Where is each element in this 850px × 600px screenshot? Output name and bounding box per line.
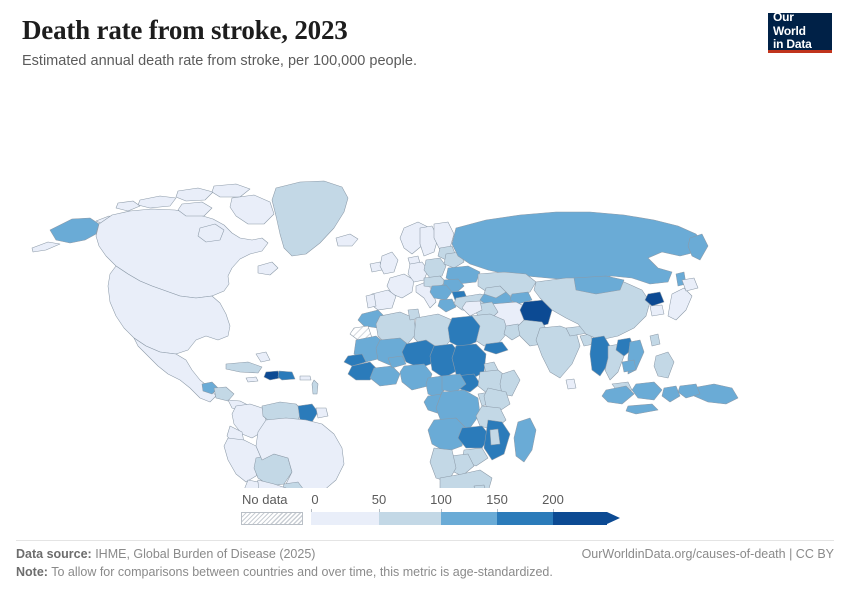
country-canada-arctic-2[interactable]	[176, 188, 213, 201]
country-aleutians[interactable]	[32, 242, 60, 252]
legend-open-ended-arrow	[607, 512, 620, 524]
country-puerto-rico[interactable]	[300, 376, 311, 380]
country-greenland[interactable]	[272, 181, 348, 256]
country-newfoundland[interactable]	[258, 262, 278, 275]
legend-tick-3	[497, 509, 498, 512]
country-south-korea[interactable]	[650, 305, 664, 316]
owid-logo[interactable]: Our World in Data	[768, 13, 832, 53]
legend-color-scale[interactable]	[311, 512, 607, 525]
country-indonesia-sulawesi[interactable]	[662, 386, 680, 402]
legend-tick-label-3: 150	[486, 492, 508, 507]
country-jamaica[interactable]	[246, 377, 258, 382]
owid-logo-line2: in Data	[773, 38, 812, 52]
legend-tick-label-4: 200	[542, 492, 564, 507]
legend-bin-4[interactable]	[553, 512, 607, 525]
footer-note-value: To allow for comparisons between countri…	[48, 565, 553, 579]
country-finland[interactable]	[434, 222, 454, 250]
page-title: Death rate from stroke, 2023	[22, 14, 828, 46]
country-indonesia-borneo[interactable]	[632, 382, 662, 400]
map-legend: No data 0 50 100 150 200	[0, 492, 850, 536]
country-yemen[interactable]	[484, 342, 508, 354]
country-canada-arctic-4[interactable]	[116, 201, 140, 211]
owid-chart: Death rate from stroke, 2023 Estimated a…	[0, 0, 850, 600]
legend-no-data-label: No data	[242, 492, 288, 507]
country-canada-arctic-3[interactable]	[212, 184, 250, 197]
footer-source-value: IHME, Global Burden of Disease (2025)	[92, 547, 316, 561]
country-haiti[interactable]	[264, 371, 280, 380]
country-taiwan[interactable]	[650, 334, 660, 346]
country-dominican-republic[interactable]	[278, 371, 295, 380]
legend-tick-2	[441, 509, 442, 512]
country-lesser-antilles[interactable]	[312, 380, 318, 394]
legend-bin-0[interactable]	[311, 512, 379, 525]
world-choropleth-map[interactable]	[0, 88, 850, 488]
legend-tick-4	[553, 509, 554, 512]
map-svg[interactable]	[0, 88, 850, 488]
country-madagascar[interactable]	[514, 418, 536, 462]
country-philippines[interactable]	[654, 352, 674, 378]
country-sri-lanka[interactable]	[566, 379, 576, 389]
country-french-guiana[interactable]	[316, 408, 328, 418]
footer-note-label: Note:	[16, 565, 48, 579]
footer-attribution-link[interactable]: OurWorldinData.org/causes-of-death | CC …	[582, 545, 834, 563]
country-cuba[interactable]	[226, 362, 262, 373]
country-iceland[interactable]	[336, 234, 358, 246]
country-canada-arctic-1[interactable]	[138, 196, 176, 208]
country-victoria-island[interactable]	[178, 202, 212, 216]
country-ivory-coast-ghana[interactable]	[370, 366, 400, 386]
country-baffin-island[interactable]	[230, 195, 274, 224]
map-countries[interactable]	[32, 181, 738, 488]
chart-footer: Data source: IHME, Global Burden of Dise…	[16, 545, 834, 581]
legend-tick-label-0: 0	[311, 492, 318, 507]
legend-tick-label-1: 50	[372, 492, 386, 507]
country-malawi[interactable]	[490, 429, 500, 445]
owid-logo-line1: Our World	[773, 11, 827, 38]
legend-bin-1[interactable]	[379, 512, 441, 525]
country-egypt[interactable]	[448, 316, 480, 348]
legend-tick-label-2: 100	[430, 492, 452, 507]
country-indonesia-java[interactable]	[626, 404, 658, 414]
country-japan[interactable]	[668, 288, 692, 320]
country-greece[interactable]	[438, 299, 456, 312]
country-bahamas[interactable]	[256, 352, 270, 362]
footer-source-label: Data source:	[16, 547, 92, 561]
country-honduras-nicaragua[interactable]	[214, 387, 234, 401]
country-portugal[interactable]	[366, 294, 376, 308]
legend-no-data-swatch[interactable]	[241, 512, 303, 525]
footer-note-row: Note: To allow for comparisons between c…	[16, 563, 834, 581]
footer-divider	[16, 540, 834, 541]
legend-tick-1	[379, 509, 380, 512]
legend-bin-3[interactable]	[497, 512, 553, 525]
country-kamchatka[interactable]	[688, 234, 708, 260]
country-poland[interactable]	[424, 258, 446, 278]
legend-tick-0	[311, 509, 312, 512]
legend-bin-2[interactable]	[441, 512, 497, 525]
footer-source-row: Data source: IHME, Global Burden of Dise…	[16, 545, 834, 563]
country-united-kingdom[interactable]	[380, 252, 398, 274]
country-cambodia[interactable]	[622, 360, 636, 372]
chart-subtitle: Estimated annual death rate from stroke,…	[22, 52, 828, 71]
country-alaska[interactable]	[50, 218, 99, 243]
chart-header: Death rate from stroke, 2023 Estimated a…	[22, 14, 828, 71]
